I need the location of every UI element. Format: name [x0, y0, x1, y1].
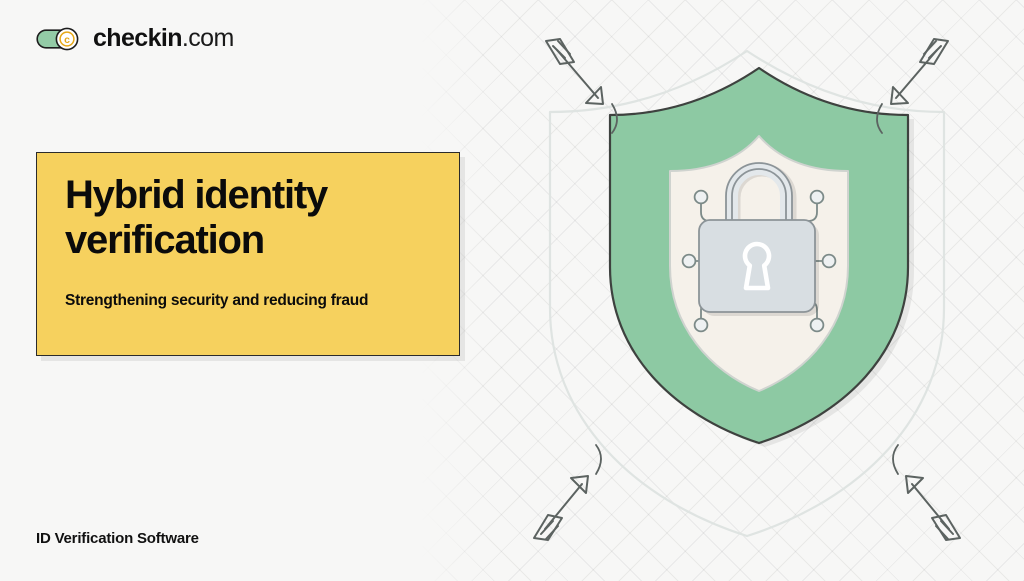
svg-text:c: c — [64, 34, 70, 46]
page-title: Hybrid identity verification — [65, 173, 445, 263]
arrow-top-left — [546, 39, 617, 133]
arrow-bottom-right — [893, 445, 960, 540]
brand-wordmark: checkin.com — [93, 26, 234, 51]
arrow-bottom-left — [534, 445, 601, 540]
title-card: Hybrid identity verification Strengtheni… — [36, 152, 460, 356]
brand-logo[interactable]: c checkin.com — [36, 26, 234, 51]
padlock-body — [699, 220, 815, 312]
security-shield-padlock-illustration — [470, 8, 1024, 581]
checkin-toggle-c-logo-icon: c — [36, 27, 82, 51]
page-subtitle: Strengthening security and reducing frau… — [65, 292, 455, 311]
brand-name: checkin — [93, 24, 182, 52]
footer-category-label: ID Verification Software — [36, 530, 199, 547]
brand-tld: .com — [182, 24, 234, 52]
slide-canvas: c checkin.com Hybrid identity verificati… — [0, 0, 1024, 581]
